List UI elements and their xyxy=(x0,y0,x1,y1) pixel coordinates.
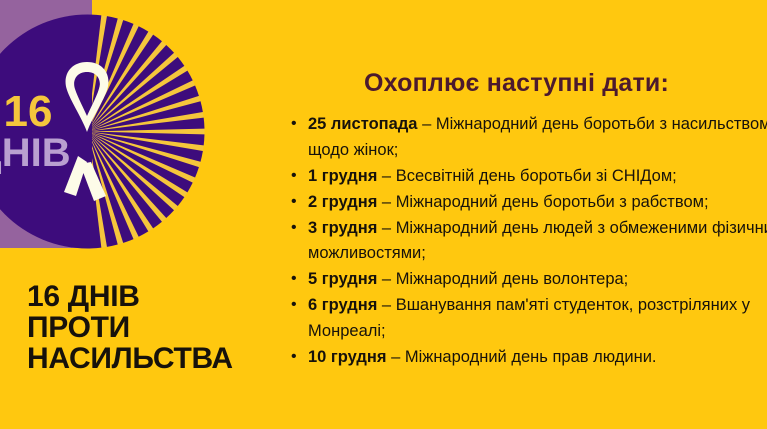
logo-number-16: 16 xyxy=(4,87,53,136)
date-list-item: 6 грудня – Вшанування пам'яті студенток,… xyxy=(308,293,767,344)
date-separator: – xyxy=(377,296,395,314)
date-label: 10 грудня xyxy=(308,348,387,366)
date-label: 3 грудня xyxy=(308,219,377,237)
date-description: Всесвітній день боротьби зі СНІДом; xyxy=(396,167,677,185)
date-label: 5 грудня xyxy=(308,270,377,288)
date-separator: – xyxy=(377,193,395,211)
logo-word-days: ДНІВ xyxy=(0,131,71,175)
date-separator: – xyxy=(387,348,405,366)
date-list-item: 3 грудня – Міжнародний день людей з обме… xyxy=(308,216,767,267)
date-list-item: 25 листопада – Міжнародний день боротьби… xyxy=(308,112,767,163)
date-list-item: 2 грудня – Міжнародний день боротьби з р… xyxy=(308,190,767,216)
date-description: Міжнародний день волонтера; xyxy=(396,270,629,288)
date-label: 25 листопада xyxy=(308,115,417,133)
logo-mark-graphic: 16 ДНІВ xyxy=(0,14,205,249)
wordmark-line-2: ПРОТИ xyxy=(27,312,259,343)
slide-canvas: 16 ДНІВ 16 ДНІВ ПРОТИ НАСИЛЬСТВА Охоплює… xyxy=(0,0,767,429)
date-separator: – xyxy=(377,167,395,185)
date-separator: – xyxy=(377,219,395,237)
content-area: Охоплює наступні дати: 25 листопада – Мі… xyxy=(266,0,767,429)
page-title: Охоплює наступні дати: xyxy=(266,69,767,98)
wordmark-text: 16 ДНІВ ПРОТИ НАСИЛЬСТВА xyxy=(27,281,259,374)
date-description: Міжнародний день боротьби з рабством; xyxy=(396,193,709,211)
wordmark-line-1: 16 ДНІВ xyxy=(27,281,259,312)
dates-list: 25 листопада – Міжнародний день боротьби… xyxy=(272,112,767,371)
date-list-item: 5 грудня – Міжнародний день волонтера; xyxy=(308,267,767,293)
date-label: 1 грудня xyxy=(308,167,377,185)
campaign-logo: 16 ДНІВ 16 ДНІВ ПРОТИ НАСИЛЬСТВА xyxy=(0,0,260,429)
date-separator: – xyxy=(417,115,435,133)
date-label: 2 грудня xyxy=(308,193,377,211)
date-label: 6 грудня xyxy=(308,296,377,314)
date-description: Міжнародний день прав людини. xyxy=(405,348,657,366)
date-separator: – xyxy=(377,270,395,288)
wordmark-line-3: НАСИЛЬСТВА xyxy=(27,343,259,374)
date-list-item: 1 грудня – Всесвітній день боротьби зі С… xyxy=(308,164,767,190)
date-list-item: 10 грудня – Міжнародний день прав людини… xyxy=(308,345,767,371)
